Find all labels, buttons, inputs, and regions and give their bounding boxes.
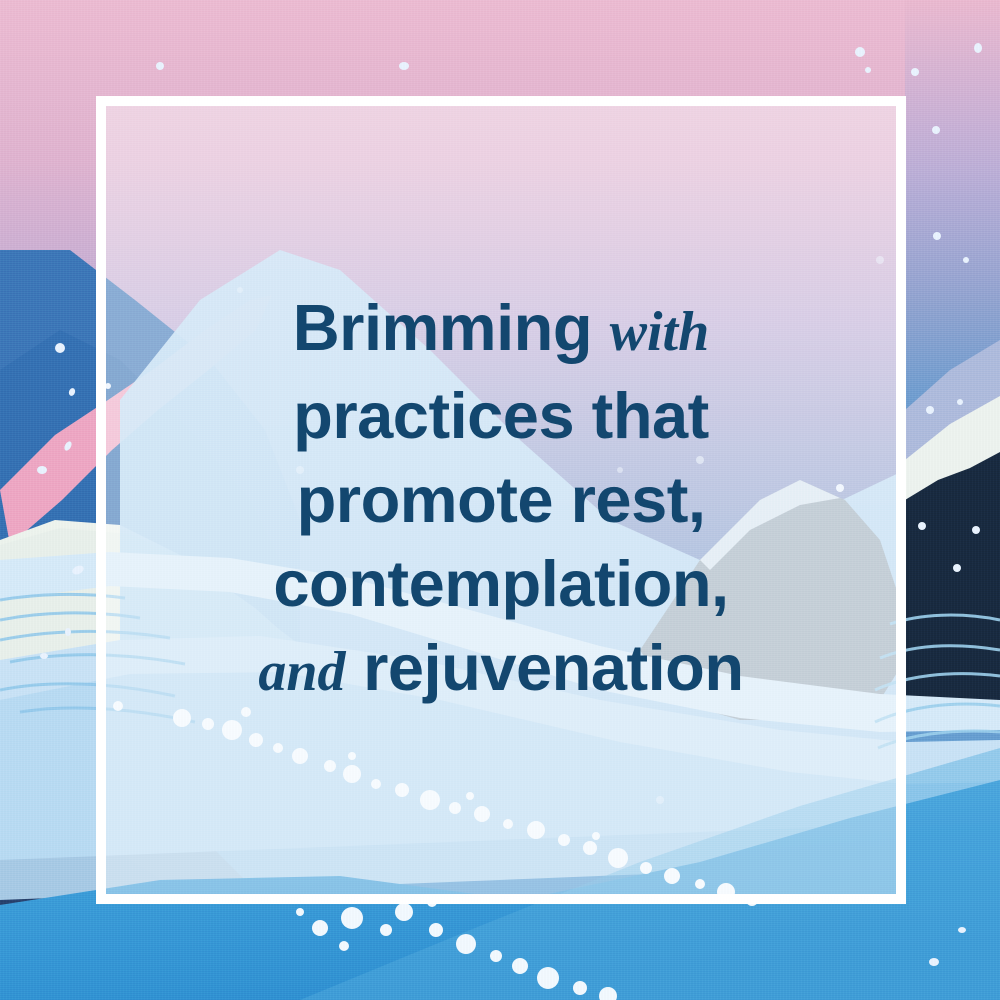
quote-line-1: Brimming with — [120, 286, 882, 374]
quote-line-2: practices that — [120, 374, 882, 458]
quote-line-3-text: promote rest, — [297, 463, 706, 536]
quote-word-rejuvenation: rejuvenation — [363, 631, 743, 704]
quote-line-2-text: practices that — [293, 379, 709, 452]
quote-line-5: and rejuvenation — [120, 626, 882, 714]
quote-block: Brimming with practices that promote res… — [106, 286, 896, 714]
quote-line-4-text: contemplation, — [273, 547, 728, 620]
quote-frame: Brimming with practices that promote res… — [96, 96, 906, 904]
quote-line-4: contemplation, — [120, 542, 882, 626]
quote-line-3: promote rest, — [120, 458, 882, 542]
quote-graphic: Brimming with practices that promote res… — [0, 0, 1000, 1000]
quote-word-and: and — [258, 641, 345, 703]
quote-word-with: with — [610, 301, 710, 363]
quote-word-brimming: Brimming — [293, 291, 592, 364]
